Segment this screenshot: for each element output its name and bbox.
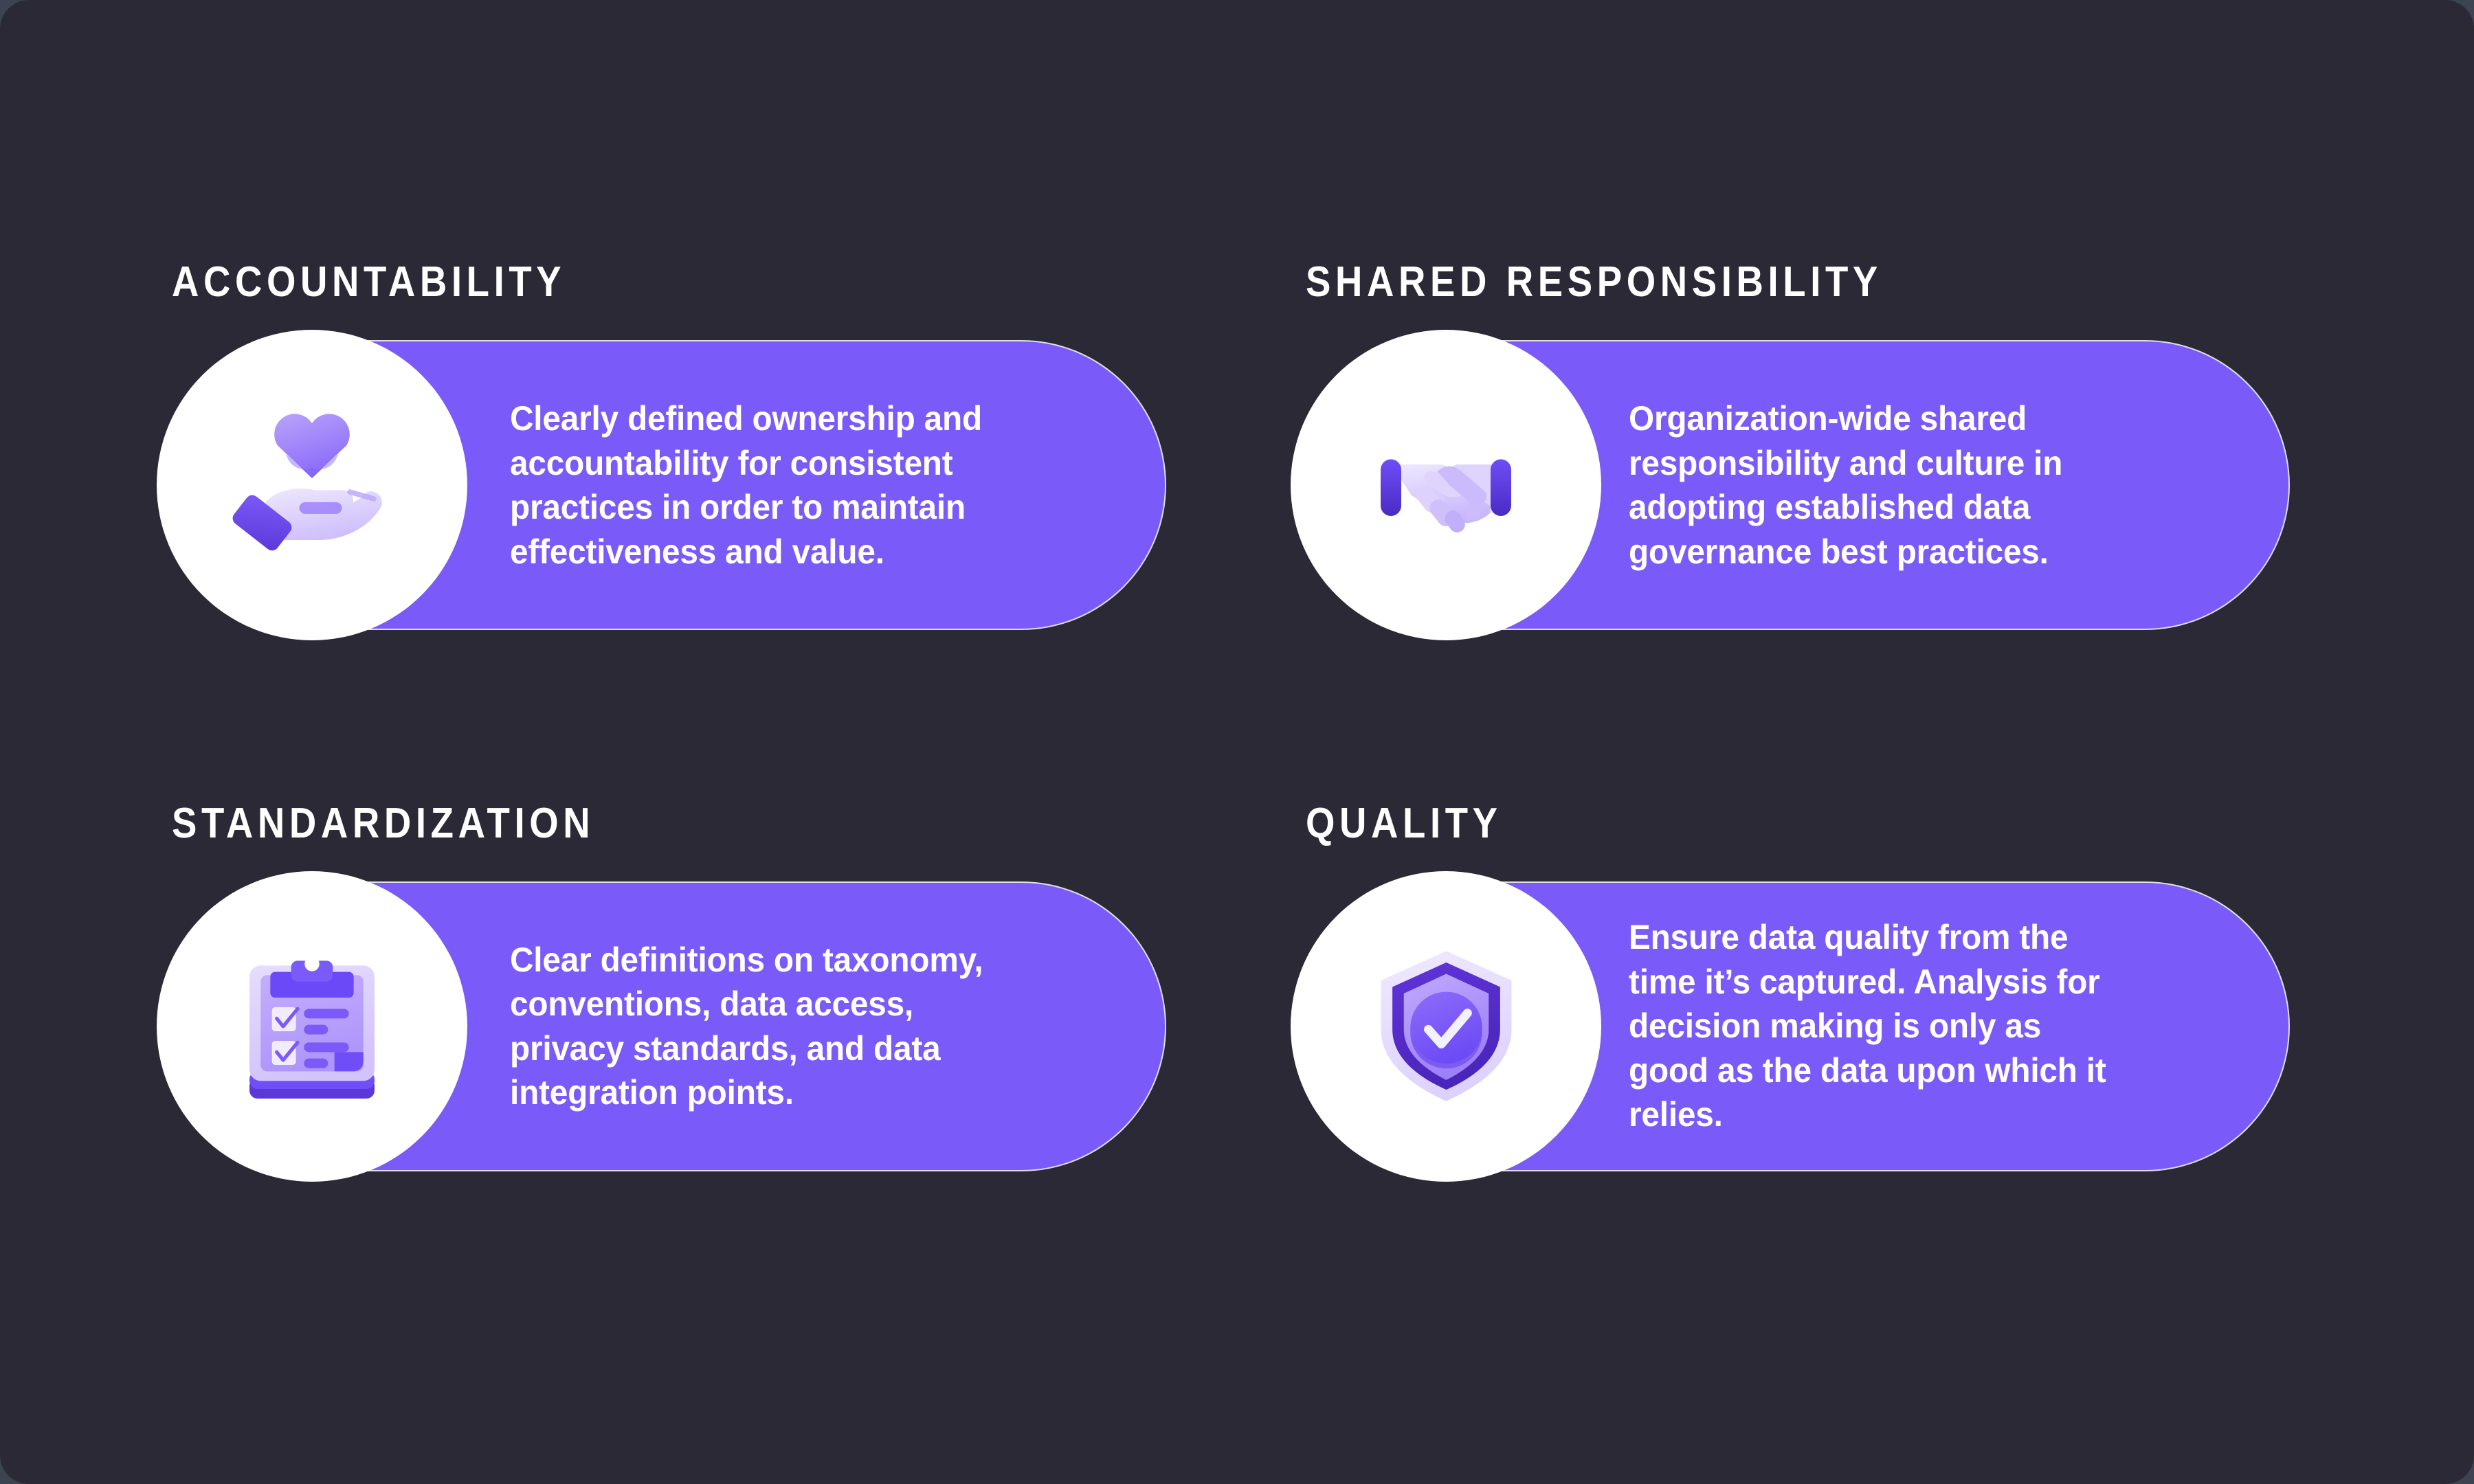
card-body: Clear definitions on taxonomy, conventio…: [510, 938, 1009, 1115]
icon-badge: [157, 330, 467, 640]
shield-check-icon: [1348, 928, 1544, 1124]
card-quality: QUALITY: [1306, 802, 2302, 1224]
infographic-page: ACCOUNTABILITY: [0, 0, 2474, 1484]
icon-badge: [157, 871, 467, 1182]
card-pill: Clear definitions on taxonomy, conventio…: [172, 883, 1165, 1170]
card-shared-responsibility: SHARED RESPONSIBILITY: [1306, 261, 2302, 682]
card-title: SHARED RESPONSIBILITY: [1306, 261, 2183, 304]
card-title: STANDARDIZATION: [172, 802, 1170, 845]
card-title: ACCOUNTABILITY: [172, 261, 1170, 304]
card-pill: Organization-wide shared responsibility …: [1306, 341, 2288, 629]
principles-grid: ACCOUNTABILITY: [172, 261, 2302, 1223]
heart-in-hand-icon: [209, 382, 415, 588]
card-title: QUALITY: [1306, 802, 2183, 845]
card-body: Organization-wide shared responsibility …: [1629, 396, 2115, 574]
card-standardization: STANDARDIZATION: [172, 802, 1306, 1224]
card-accountability: ACCOUNTABILITY: [172, 261, 1306, 682]
card-pill: Ensure data quality from the time it’s c…: [1306, 883, 2288, 1170]
card-pill: Clearly defined ownership and accountabi…: [172, 341, 1165, 629]
handshake-icon: [1343, 382, 1549, 588]
card-body: Ensure data quality from the time it’s c…: [1629, 915, 2115, 1137]
card-body: Clearly defined ownership and accountabi…: [510, 396, 1009, 574]
icon-badge: [1291, 330, 1601, 640]
clipboard-checklist-icon: [216, 930, 408, 1123]
icon-badge: [1291, 871, 1601, 1182]
